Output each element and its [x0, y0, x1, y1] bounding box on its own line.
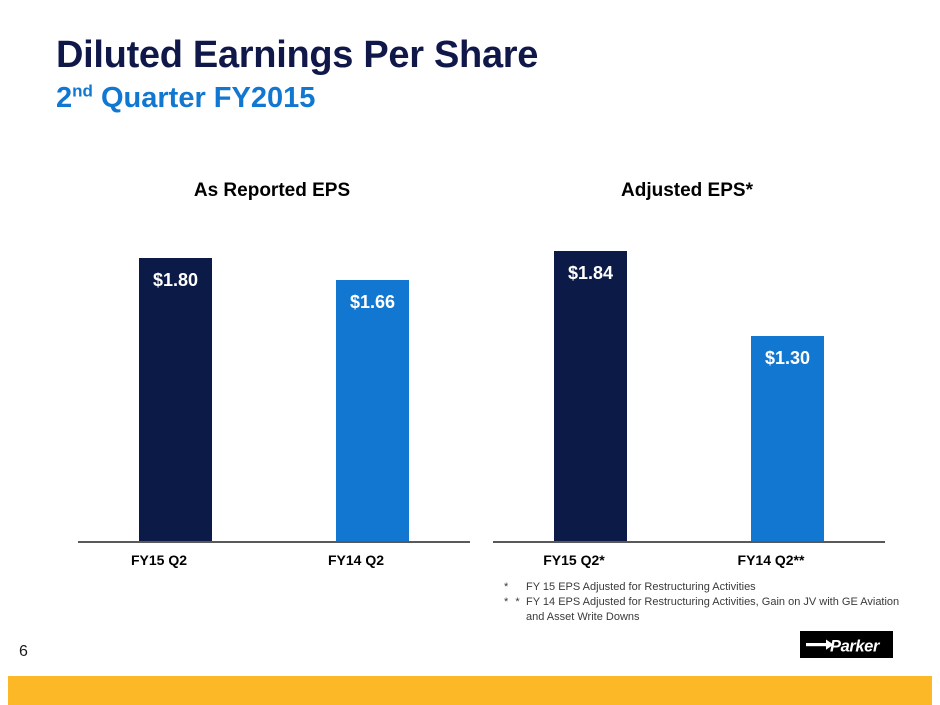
- bar-value-label: $1.80: [153, 270, 198, 291]
- plot-area-adjusted: $1.84 $1.30: [493, 228, 885, 543]
- footnote-text: FY 15 EPS Adjusted for Restructuring Act…: [526, 580, 914, 595]
- page-number: 6: [19, 643, 28, 661]
- plot-area-as-reported: $1.80 $1.66: [78, 228, 470, 543]
- bar-fy14-q2-adjusted[interactable]: $1.30: [751, 336, 824, 541]
- chart-panel-adjusted: Adjusted EPS* $1.84 $1.30 FY15 Q2* FY14 …: [477, 180, 897, 580]
- bar-value-label: $1.30: [765, 348, 810, 369]
- footnote-text: FY 14 EPS Adjusted for Restructuring Act…: [526, 595, 914, 625]
- subtitle-ordinal-suffix: nd: [72, 81, 93, 100]
- x-axis-line-adjusted: [493, 541, 885, 543]
- bar-fy15-q2-reported[interactable]: $1.80: [139, 258, 212, 542]
- footnote-marker: *: [494, 580, 526, 595]
- category-label-fy15-q2: FY15 Q2: [89, 552, 229, 568]
- chart-panel-as-reported: As Reported EPS $1.80 $1.66 FY15 Q2 FY14…: [62, 180, 482, 580]
- bar-fy15-q2-adjusted[interactable]: $1.84: [554, 251, 627, 541]
- x-axis-line-as-reported: [78, 541, 470, 543]
- category-label-fy14-q2-adjusted: FY14 Q2**: [701, 552, 841, 568]
- chart-title-adjusted: Adjusted EPS*: [477, 180, 897, 202]
- svg-text:Parker: Parker: [830, 637, 881, 655]
- slide-canvas: Diluted Earnings Per Share 2nd Quarter F…: [0, 0, 940, 705]
- bar-value-label: $1.84: [568, 263, 613, 284]
- category-label-fy15-q2-adjusted: FY15 Q2*: [504, 552, 644, 568]
- page-title: Diluted Earnings Per Share: [56, 36, 756, 76]
- bar-fy14-q2-reported[interactable]: $1.66: [336, 280, 409, 541]
- bottom-accent-bar: [8, 676, 932, 705]
- bar-value-label: $1.66: [350, 292, 395, 313]
- page-subtitle: 2nd Quarter FY2015: [56, 83, 756, 115]
- category-label-fy14-q2: FY14 Q2: [286, 552, 426, 568]
- parker-logo-icon: Parker: [800, 631, 893, 658]
- footnote-item: * * FY 14 EPS Adjusted for Restructuring…: [494, 595, 914, 625]
- footnotes-block: * FY 15 EPS Adjusted for Restructuring A…: [494, 580, 914, 626]
- subtitle-number: 2: [56, 82, 72, 114]
- chart-title-as-reported: As Reported EPS: [62, 180, 482, 202]
- title-block: Diluted Earnings Per Share 2nd Quarter F…: [56, 36, 756, 115]
- subtitle-rest: Quarter FY2015: [93, 82, 315, 114]
- footnote-item: * FY 15 EPS Adjusted for Restructuring A…: [494, 580, 914, 595]
- footnote-marker: * *: [494, 595, 526, 625]
